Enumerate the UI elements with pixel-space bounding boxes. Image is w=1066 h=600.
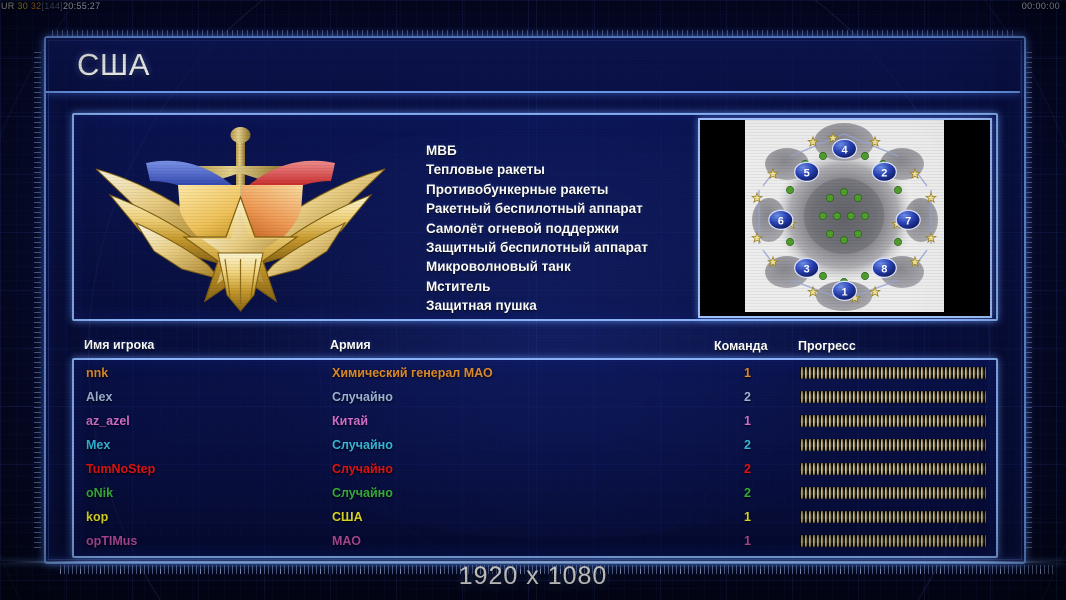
column-header-progress: Прогресс	[798, 339, 856, 353]
map-tree-marker	[894, 186, 901, 193]
map-tree-marker	[819, 212, 826, 219]
map-start-position[interactable]: 2	[872, 162, 896, 181]
table-row[interactable]: AlexСлучайно2	[74, 390, 996, 414]
player-name: oNik	[86, 486, 113, 500]
unit-list-item: Мститель	[426, 277, 716, 296]
players-table: nnkХимический генерал МАО1AlexСлучайно2a…	[72, 358, 998, 558]
map-tree-marker	[854, 194, 861, 201]
table-row[interactable]: nnkХимический генерал МАО1	[74, 366, 996, 390]
player-progress-fill	[800, 367, 986, 379]
player-progress-fill	[800, 535, 986, 547]
player-name: opTIMus	[86, 534, 137, 548]
unit-list-item: Ракетный беспилотный аппарат	[426, 199, 716, 218]
map-preview: 45267381	[698, 118, 992, 318]
resolution-label: 1920 x 1080	[0, 562, 1066, 591]
usa-winged-star-emblem	[84, 119, 404, 315]
player-team: 1	[744, 414, 751, 428]
map-start-position-label: 4	[841, 144, 848, 156]
fps-segment: [144]	[41, 1, 63, 11]
ruler-right	[1025, 52, 1032, 550]
map-tree-marker	[819, 272, 826, 279]
player-name: az_azel	[86, 414, 130, 428]
map-start-position-label: 3	[804, 263, 810, 275]
map-start-position[interactable]: 5	[795, 162, 819, 181]
player-progress-fill	[800, 391, 986, 403]
map-tree-marker	[826, 230, 833, 237]
fps-segment: UR	[1, 1, 17, 11]
unit-list-item: Тепловые ракеты	[426, 160, 716, 179]
map-tree-marker	[786, 238, 793, 245]
unit-list-item: Защитная пушка	[426, 296, 716, 315]
player-progress-fill	[800, 511, 986, 523]
player-progress-bar	[800, 535, 986, 547]
map-tree-marker	[854, 230, 861, 237]
map-start-position[interactable]: 1	[833, 281, 857, 300]
player-army: Случайно	[332, 486, 393, 500]
player-team: 2	[744, 462, 751, 476]
column-header-name: Имя игрока	[84, 338, 154, 352]
player-team: 2	[744, 390, 751, 404]
map-start-position[interactable]: 3	[795, 258, 819, 277]
map-start-position-label: 2	[881, 167, 887, 179]
player-progress-fill	[800, 487, 986, 499]
player-name: Mex	[86, 438, 110, 452]
map-tree-marker	[819, 152, 826, 159]
faction-info-panel: МВБТепловые ракетыПротивобункерные ракет…	[72, 113, 998, 321]
player-progress-fill	[800, 439, 986, 451]
player-team: 2	[744, 486, 751, 500]
player-team: 2	[744, 438, 751, 452]
map-tree-marker	[826, 194, 833, 201]
map-tree-marker	[847, 212, 854, 219]
player-team: 1	[744, 534, 751, 548]
map-tree-marker	[833, 212, 840, 219]
map-start-position[interactable]: 7	[896, 210, 920, 229]
session-clock: 00:00:00	[1022, 0, 1060, 12]
player-army: Китай	[332, 414, 368, 428]
map-tree-marker	[840, 188, 847, 195]
map-start-position-label: 8	[881, 263, 887, 275]
table-row[interactable]: TumNoStepСлучайно2	[74, 462, 996, 486]
map-preview-image: 45267381	[745, 120, 944, 312]
map-start-position[interactable]: 6	[769, 210, 793, 229]
player-army: Случайно	[332, 438, 393, 452]
column-header-army: Армия	[330, 338, 371, 352]
game-lobby-screen: UR 30 32[144]20:55:27 00:00:00 США	[0, 0, 1066, 600]
player-name: kop	[86, 510, 108, 524]
fps-overlay-text: UR 30 32[144]20:55:27	[1, 0, 100, 12]
players-table-header: Имя игрока Армия Команда Прогресс	[72, 338, 994, 358]
map-tree-marker	[861, 272, 868, 279]
fps-segment: 32	[31, 1, 42, 11]
faction-unit-list: МВБТепловые ракетыПротивобункерные ракет…	[426, 141, 716, 316]
player-progress-fill	[800, 415, 986, 427]
player-army: Химический генерал МАО	[332, 366, 493, 380]
map-start-position-label: 5	[804, 167, 810, 179]
player-progress-fill	[800, 463, 986, 475]
player-progress-bar	[800, 415, 986, 427]
unit-list-item: МВБ	[426, 141, 716, 160]
player-progress-bar	[800, 439, 986, 451]
ruler-left	[34, 52, 41, 550]
player-team: 1	[744, 366, 751, 380]
map-tree-marker	[861, 212, 868, 219]
player-army: МАО	[332, 534, 361, 548]
map-start-position-label: 1	[841, 286, 847, 298]
map-tree-marker	[786, 186, 793, 193]
map-start-position[interactable]: 4	[833, 139, 857, 158]
map-tree-marker	[894, 238, 901, 245]
column-header-team: Команда	[714, 339, 768, 353]
player-army: Случайно	[332, 390, 393, 404]
fps-segment: 30	[17, 1, 30, 11]
title-bar: США	[46, 38, 1020, 93]
player-name: nnk	[86, 366, 108, 380]
table-row[interactable]: MexСлучайно2	[74, 438, 996, 462]
map-tree-marker	[861, 152, 868, 159]
player-progress-bar	[800, 463, 986, 475]
unit-list-item: Защитный беспилотный аппарат	[426, 238, 716, 257]
map-tree-marker	[840, 236, 847, 243]
player-name: TumNoStep	[86, 462, 155, 476]
player-progress-bar	[800, 487, 986, 499]
map-start-position[interactable]: 8	[872, 258, 896, 277]
page-title: США	[77, 47, 150, 83]
player-progress-bar	[800, 511, 986, 523]
unit-list-item: Самолёт огневой поддержки	[426, 219, 716, 238]
player-progress-bar	[800, 391, 986, 403]
player-team: 1	[744, 510, 751, 524]
player-name: Alex	[86, 390, 112, 404]
top-hud-bar: UR 30 32[144]20:55:27 00:00:00	[0, 0, 1066, 13]
resolution-bar: 1920 x 1080	[0, 554, 1066, 600]
table-row[interactable]: oNikСлучайно2	[74, 486, 996, 510]
player-progress-bar	[800, 367, 986, 379]
table-row[interactable]: kopСША1	[74, 510, 996, 534]
player-army: Случайно	[332, 462, 393, 476]
fps-segment: 20:55:27	[63, 1, 100, 11]
map-start-position-label: 7	[905, 215, 911, 227]
unit-list-item: Микроволновый танк	[426, 257, 716, 276]
table-row[interactable]: az_azelКитай1	[74, 414, 996, 438]
unit-list-item: Противобункерные ракеты	[426, 180, 716, 199]
player-army: США	[332, 510, 363, 524]
map-start-position-label: 6	[778, 215, 784, 227]
